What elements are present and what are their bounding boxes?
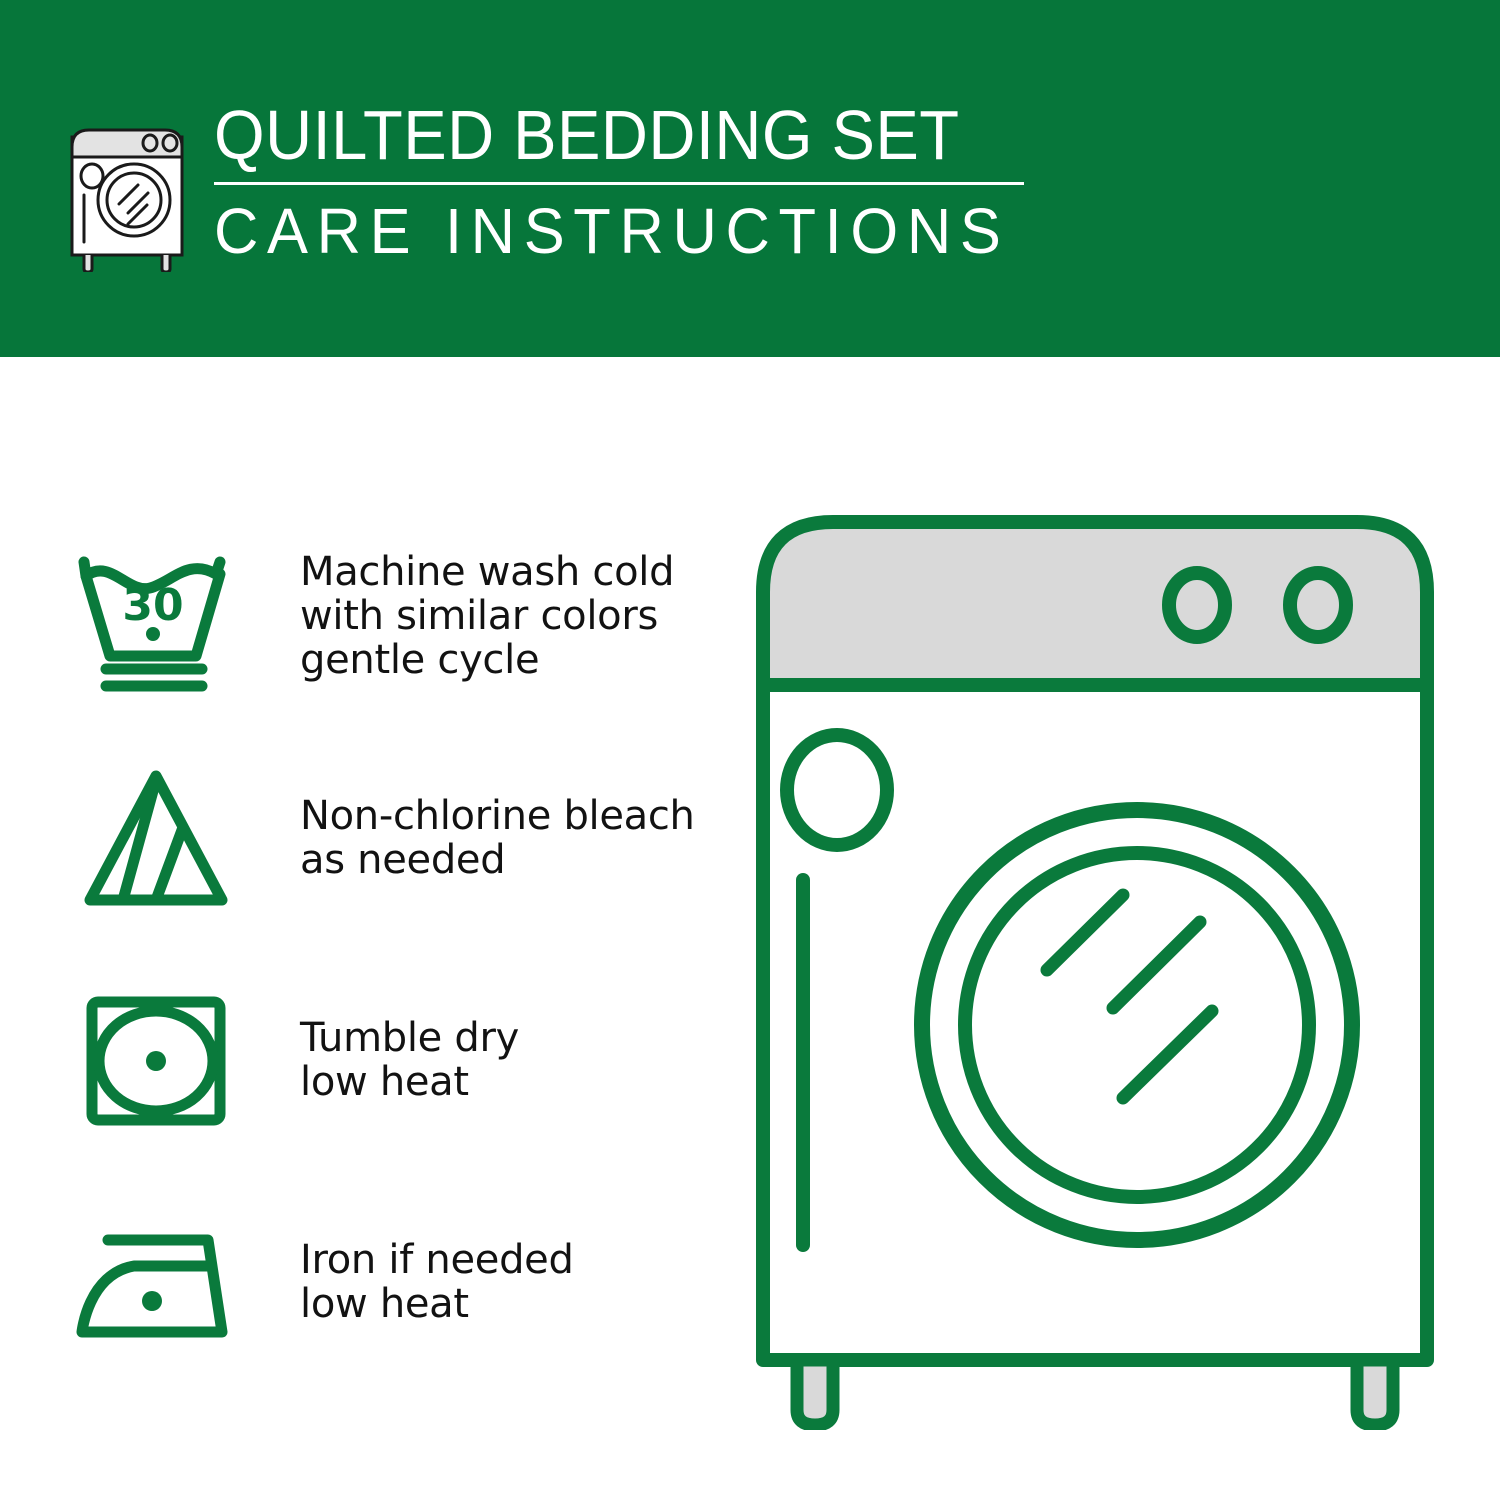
header-content: QUILTED BEDDING SET CARE INSTRUCTIONS (62, 96, 1043, 272)
care-row-iron: Iron if needed low heat (70, 1171, 720, 1393)
care-text-line: Non-chlorine bleach (300, 794, 695, 838)
washing-machine-icon (62, 102, 192, 272)
title-divider (214, 182, 1024, 185)
header-band: QUILTED BEDDING SET CARE INSTRUCTIONS (0, 0, 1500, 357)
care-text-line: Iron if needed (300, 1238, 574, 1282)
care-text-bleach: Non-chlorine bleach as needed (300, 794, 695, 882)
care-text-wash: Machine wash cold with similar colors ge… (300, 550, 674, 682)
care-row-bleach: Non-chlorine bleach as needed (70, 727, 720, 949)
page-subtitle: CARE INSTRUCTIONS (214, 197, 1009, 265)
tumble-dry-icon (70, 980, 242, 1140)
care-text-line: gentle cycle (300, 638, 674, 682)
machine-door-outer-ring (922, 810, 1352, 1240)
care-text-line: with similar colors (300, 594, 674, 638)
page-title: QUILTED BEDDING SET (214, 98, 985, 172)
machine-door-streaks (1047, 895, 1212, 1098)
wash-tub-30-icon: 30 (70, 536, 242, 696)
care-label-page: QUILTED BEDDING SET CARE INSTRUCTIONS 30 (0, 0, 1500, 1500)
care-text-line: low heat (300, 1282, 574, 1326)
machine-leg-left (797, 1360, 833, 1425)
machine-top-panel (763, 522, 1427, 685)
care-row-tumble-dry: Tumble dry low heat (70, 949, 720, 1171)
care-text-line: low heat (300, 1060, 519, 1104)
care-text-line: as needed (300, 838, 695, 882)
care-text-tumble-dry: Tumble dry low heat (300, 1016, 519, 1104)
wash-temperature-label: 30 (122, 580, 183, 631)
care-row-wash: 30 Machine wash cold with similar colors… (70, 505, 720, 727)
iron-icon (70, 1202, 242, 1362)
title-block: QUILTED BEDDING SET CARE INSTRUCTIONS (214, 96, 1043, 265)
washing-machine-illustration (745, 500, 1445, 1430)
machine-leg-right (1357, 1360, 1393, 1425)
care-instruction-list: 30 Machine wash cold with similar colors… (70, 505, 720, 1393)
machine-door-inner-ring (965, 853, 1309, 1197)
machine-detergent-port (787, 735, 887, 845)
care-text-iron: Iron if needed low heat (300, 1238, 574, 1326)
care-text-line: Machine wash cold (300, 550, 674, 594)
care-text-line: Tumble dry (300, 1016, 519, 1060)
bleach-triangle-icon (70, 758, 242, 918)
